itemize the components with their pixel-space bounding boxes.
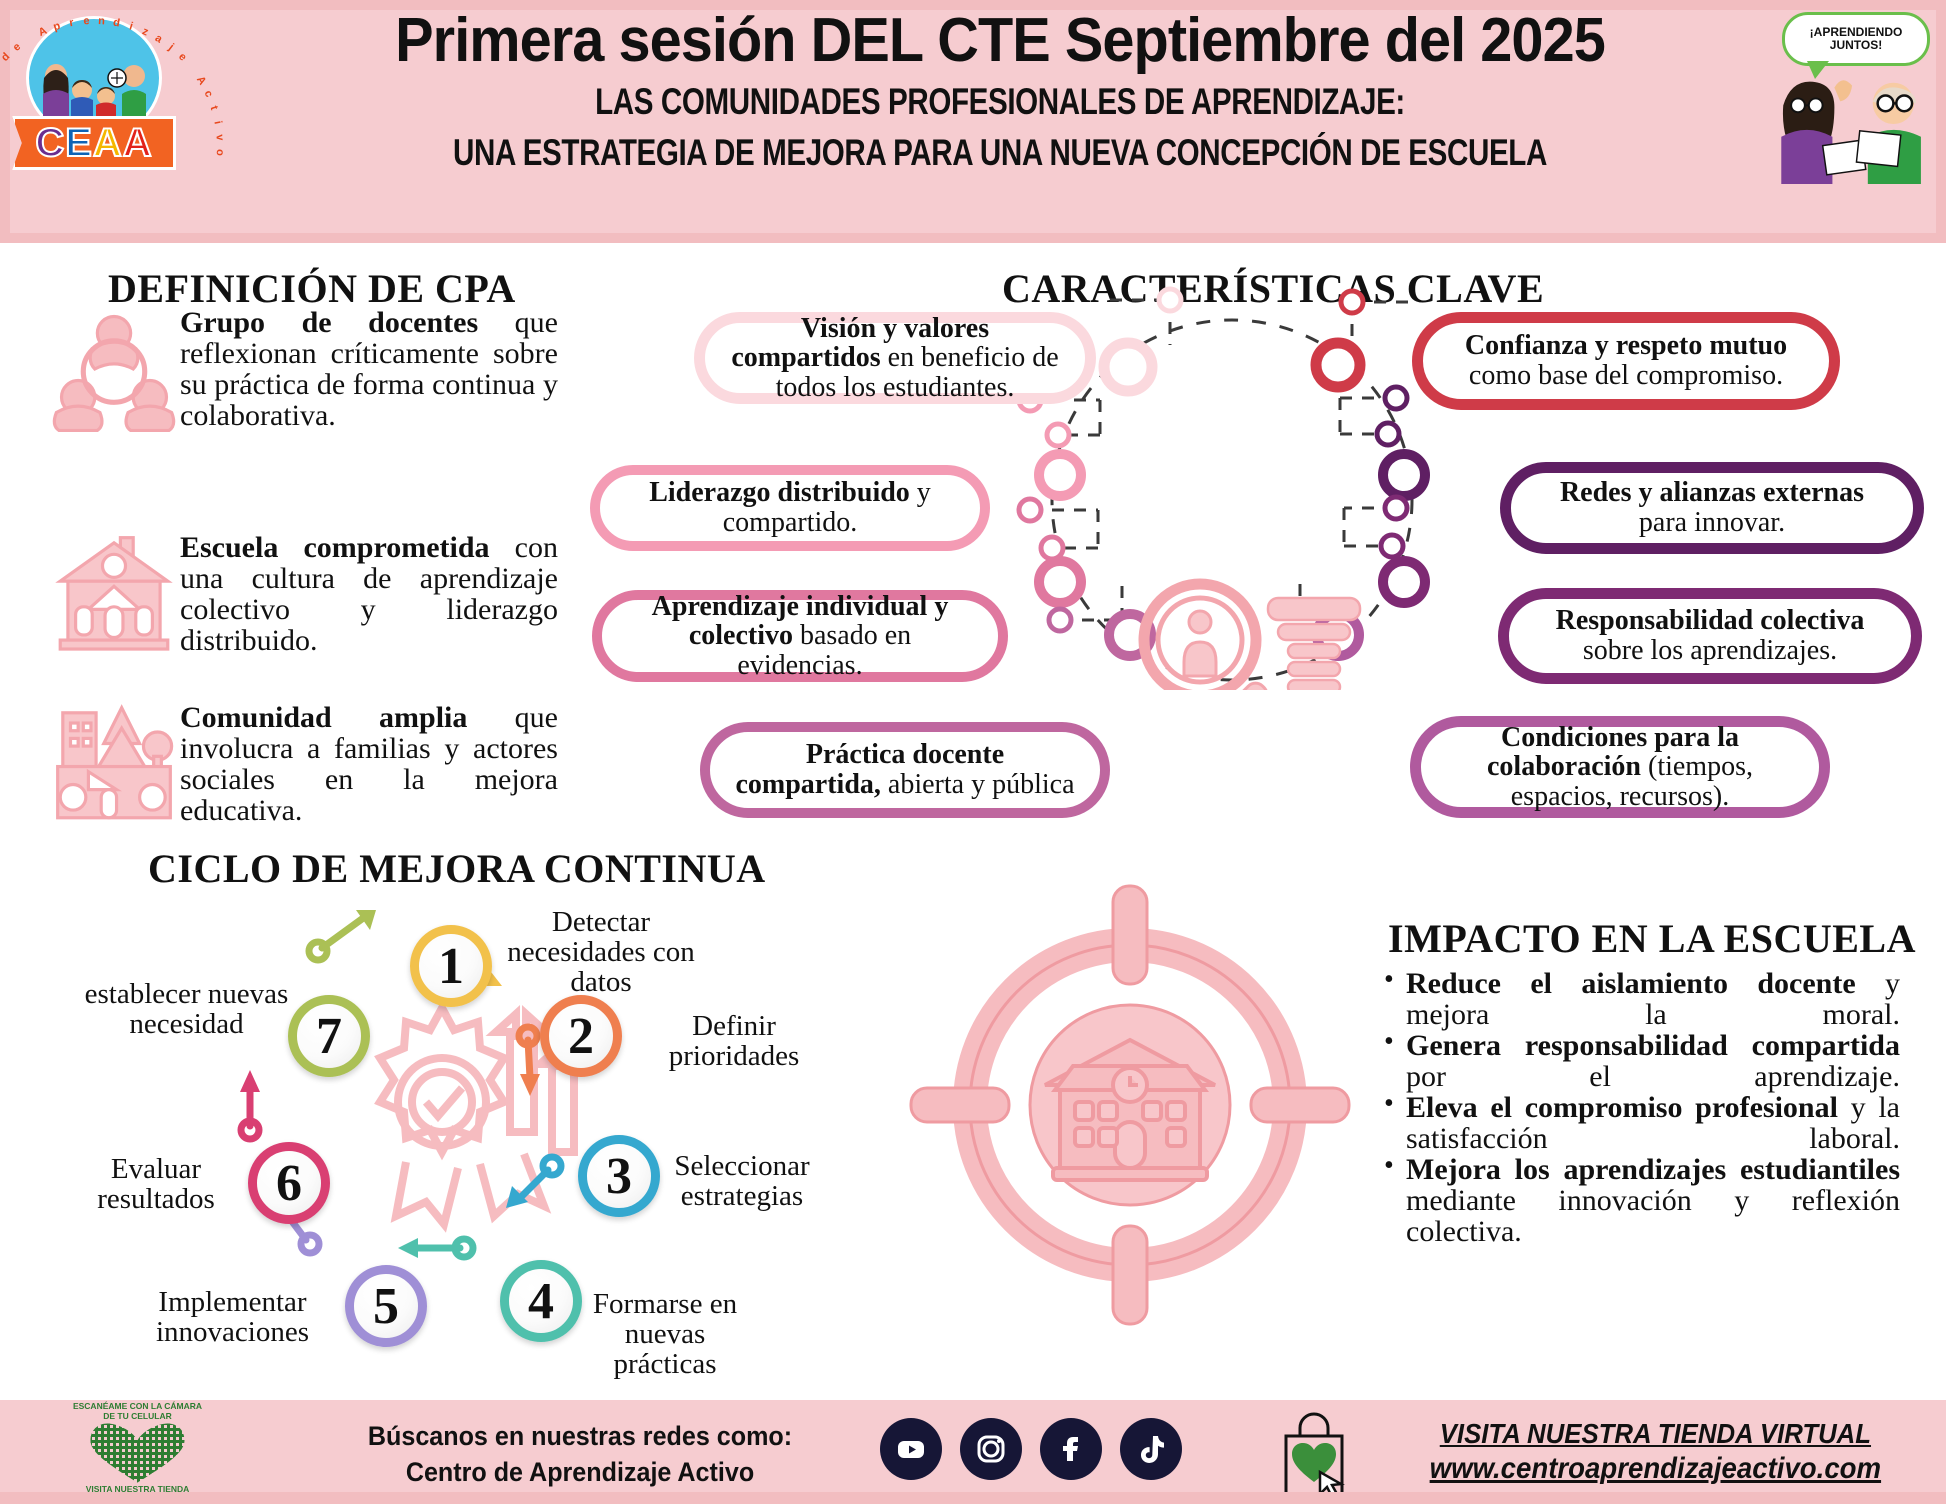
- impacto-item-3: Eleva el compromiso profesional y la sat…: [1380, 1092, 1900, 1154]
- step-number: 2: [568, 1007, 594, 1066]
- ciclo-step-4[interactable]: 4: [500, 1260, 582, 1342]
- definicion-item-3-bold: Comunidad amplia: [180, 701, 467, 734]
- ciclo-step-2-label: Definir prioridades: [660, 1012, 808, 1072]
- social-line-1: Búscanos en nuestras redes como:: [320, 1418, 841, 1454]
- step-number: 7: [316, 1007, 342, 1066]
- tiktok-icon[interactable]: [1120, 1418, 1182, 1480]
- footer-bar: ESCANÉAME CON LA CÁMARA DE TU CELULAR VI…: [0, 1400, 1946, 1504]
- infographic-page: Centro de Aprendizaje Activo CEAA Primer…: [0, 0, 1946, 1504]
- step-number: 1: [438, 937, 464, 996]
- impacto-item-2: Genera responsabilidad compartida por el…: [1380, 1030, 1900, 1092]
- definicion-item-3: Comunidad amplia que involucra a familia…: [48, 700, 558, 828]
- ciclo-step-1-label: Detectar necesidades con datos: [494, 908, 708, 998]
- pill-text: Confianza y respeto mutuo como base del …: [1445, 331, 1807, 390]
- facebook-icon[interactable]: [1040, 1418, 1102, 1480]
- mascot-illustration: ¡APRENDIENDO JUNTOS!: [1774, 8, 1940, 184]
- ciclo-step-6[interactable]: 6: [248, 1142, 330, 1224]
- ciclo-step-7-label: establecer nuevas necesidad: [84, 980, 289, 1040]
- social-line-2: Centro de Aprendizaje Activo: [320, 1454, 841, 1490]
- pill-text: Responsabilidad colectiva sobre los apre…: [1531, 606, 1889, 665]
- social-call-to-action: Búscanos en nuestras redes como: Centro …: [320, 1418, 841, 1491]
- ciclo-step-7[interactable]: 7: [288, 995, 370, 1077]
- pill-text: Redes y alianzas externas para innovar.: [1533, 478, 1891, 537]
- logo-wordmark: CEAA: [35, 121, 152, 166]
- page-subtitle-1: LAS COMUNIDADES PROFESIONALES DE APRENDI…: [392, 79, 1608, 124]
- caracteristica-pill-practica[interactable]: Práctica docente compartida, abierta y p…: [700, 722, 1110, 818]
- logo-people-illustration: [38, 54, 150, 122]
- definicion-item-3-text: Comunidad amplia que involucra a familia…: [180, 700, 558, 828]
- ciclo-step-3[interactable]: 3: [578, 1135, 660, 1217]
- speech-bubble-text: ¡APRENDIENDO JUNTOS!: [1785, 26, 1927, 52]
- header-banner: Centro de Aprendizaje Activo CEAA Primer…: [0, 0, 1946, 243]
- step-number: 4: [528, 1272, 554, 1331]
- instagram-icon[interactable]: [960, 1418, 1022, 1480]
- caracteristica-pill-redes[interactable]: Redes y alianzas externas para innovar.: [1500, 462, 1924, 554]
- community-city-icon: [48, 700, 180, 828]
- caracteristica-pill-condiciones[interactable]: Condiciones para la colaboración (tiempo…: [1410, 716, 1830, 818]
- store-line-1: VISITA NUESTRA TIENDA VIRTUAL: [1439, 1418, 1870, 1450]
- ciclo-step-6-label: Evaluar resultados: [60, 1155, 252, 1215]
- ciclo-step-2[interactable]: 2: [540, 995, 622, 1077]
- impacto-item-1: Reduce el aislamiento docente y mejora l…: [1380, 968, 1900, 1030]
- logo-ribbon: CEAA: [12, 116, 176, 170]
- title-block: Primera sesión DEL CTE Septiembre del 20…: [240, 8, 1760, 175]
- page-subtitle-2: UNA ESTRATEGIA DE MEJORA PARA UNA NUEVA …: [392, 130, 1608, 175]
- store-call-to-action[interactable]: VISITA NUESTRA TIENDA VIRTUAL www.centro…: [1370, 1418, 1940, 1486]
- impacto-list: Reduce el aislamiento docente y mejora l…: [1380, 968, 1900, 1247]
- pill-text: Condiciones para la colaboración (tiempo…: [1443, 723, 1797, 812]
- caracteristica-pill-vision[interactable]: Visión y valores compartidos en benefici…: [694, 312, 1096, 404]
- qr-caption-top: ESCANÉAME CON LA CÁMARA DE TU CELULAR: [70, 1402, 205, 1422]
- caracteristica-pill-responsabilidad[interactable]: Responsabilidad colectiva sobre los apre…: [1498, 588, 1922, 684]
- impacto-item-4: Mejora los aprendizajes estudiantiles me…: [1380, 1154, 1900, 1247]
- pill-text: Visión y valores compartidos en benefici…: [727, 314, 1063, 403]
- ciclo-step-5-label: Implementar innovaciones: [130, 1288, 335, 1348]
- footer-bottom-strip: [0, 1492, 1946, 1504]
- target-school-icon: [905, 880, 1355, 1330]
- pill-text: Aprendizaje individual y colectivo basad…: [624, 592, 976, 681]
- pill-text: Práctica docente compartida, abierta y p…: [732, 740, 1078, 799]
- youtube-icon[interactable]: [880, 1418, 942, 1480]
- social-icons: [880, 1418, 1182, 1480]
- ciclo-step-4-label: Formarse en nuevas prácticas: [585, 1290, 745, 1380]
- ceaa-logo: Centro de Aprendizaje Activo CEAA: [8, 12, 180, 172]
- caracteristica-pill-aprendizaje[interactable]: Aprendizaje individual y colectivo basad…: [592, 590, 1008, 682]
- ciclo-step-5[interactable]: 5: [345, 1265, 427, 1347]
- shopping-bag-icon: [1270, 1410, 1360, 1496]
- step-number: 3: [606, 1147, 632, 1206]
- speech-bubble: ¡APRENDIENDO JUNTOS!: [1782, 12, 1930, 66]
- step-number: 5: [373, 1277, 399, 1336]
- qr-heart-code[interactable]: [89, 1423, 187, 1485]
- step-number: 6: [276, 1154, 302, 1213]
- store-line-2: www.centroaprendizajeactivo.com: [1429, 1452, 1880, 1486]
- caracteristica-pill-liderazgo[interactable]: Liderazgo distribuido y compartido.: [590, 465, 990, 551]
- mascot-people: [1774, 66, 1940, 184]
- ciclo-step-1[interactable]: 1: [410, 925, 492, 1007]
- ciclo-step-3-label: Seleccionar estrategias: [668, 1152, 816, 1212]
- impacto-section-title: IMPACTO EN LA ESCUELA: [1388, 915, 1916, 962]
- pill-text: Liderazgo distribuido y compartido.: [622, 478, 958, 537]
- qr-code-block[interactable]: ESCANÉAME CON LA CÁMARA DE TU CELULAR VI…: [70, 1402, 205, 1500]
- page-title: Primera sesión DEL CTE Septiembre del 20…: [293, 8, 1707, 73]
- caracteristica-pill-confianza[interactable]: Confianza y respeto mutuo como base del …: [1412, 312, 1840, 410]
